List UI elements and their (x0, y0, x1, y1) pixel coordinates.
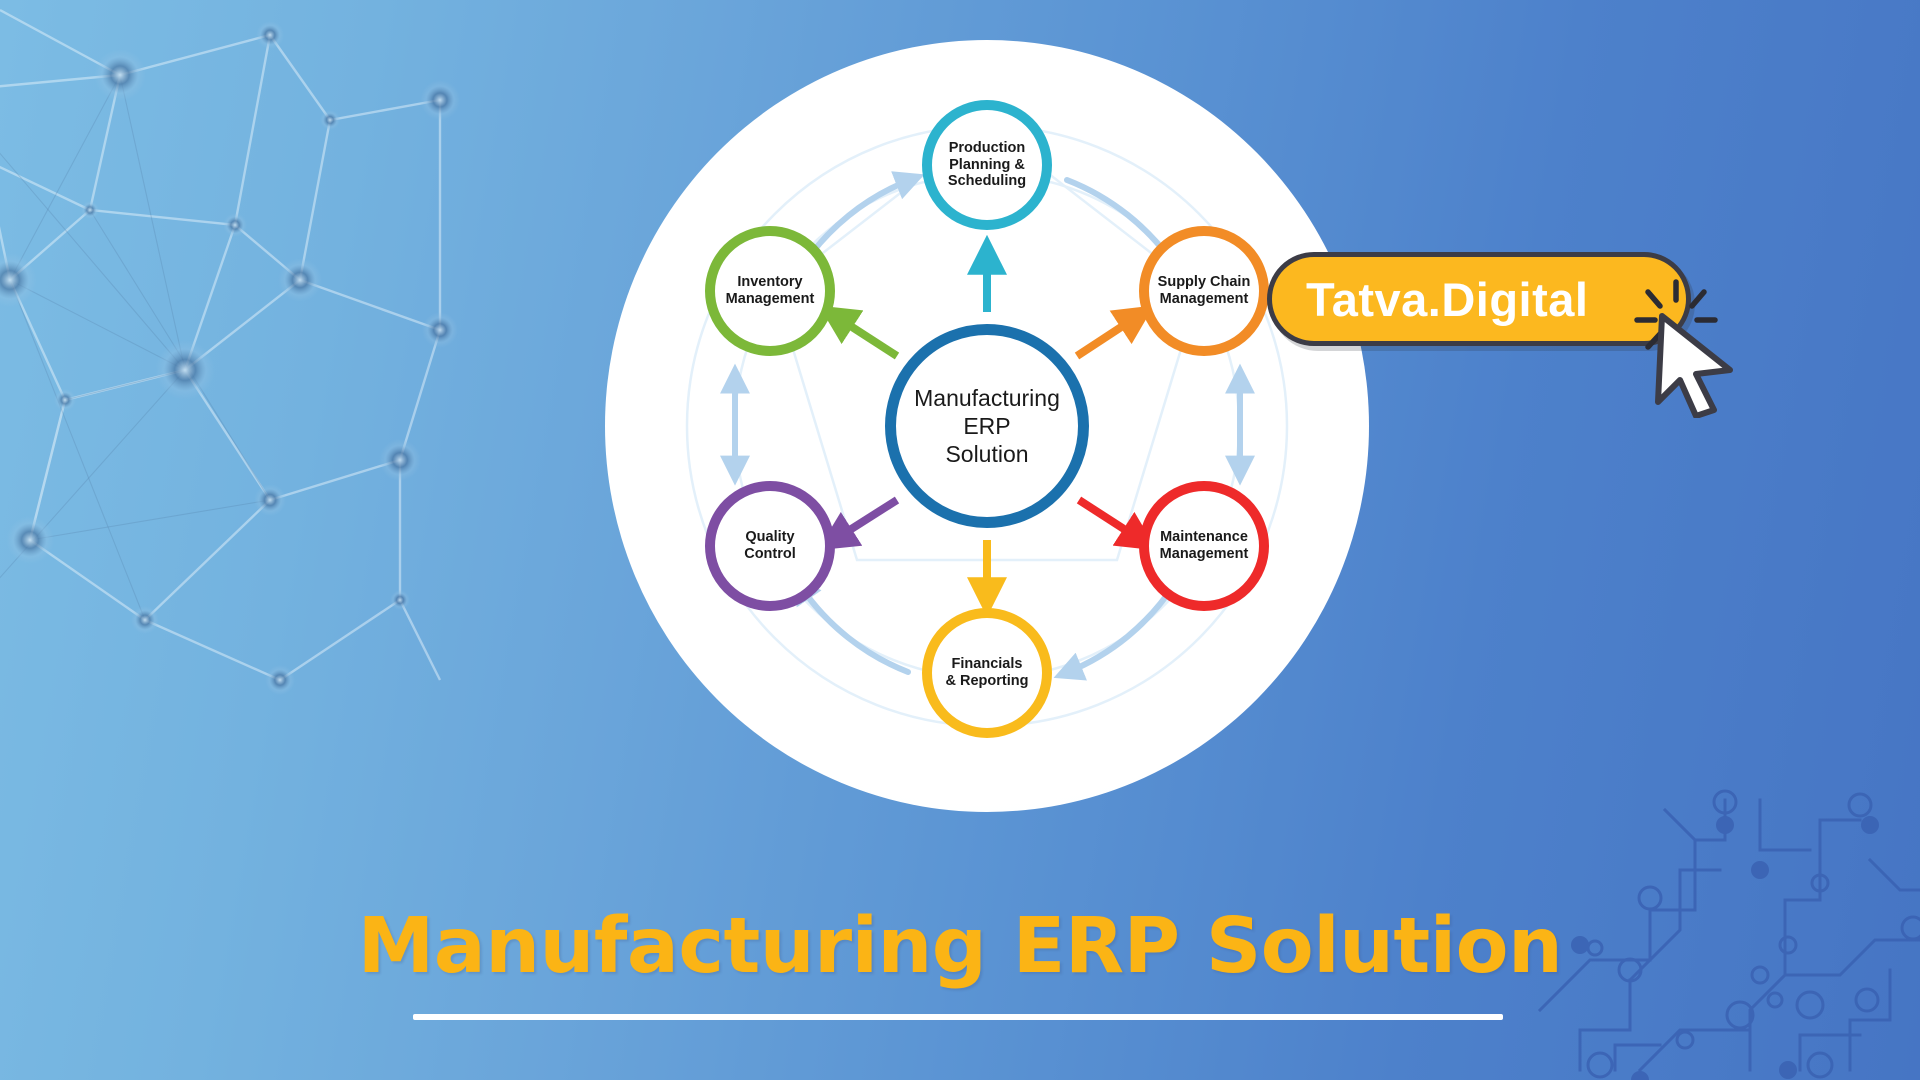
erp-solution-diagram: ProductionPlanning &Scheduling Supply Ch… (605, 40, 1369, 812)
node-production-planning-label: ProductionPlanning &Scheduling (944, 140, 1030, 190)
node-supply-chain-management[interactable]: Supply ChainManagement (1139, 226, 1269, 356)
node-quality-control[interactable]: QualityControl (705, 481, 835, 611)
node-quality-control-label: QualityControl (740, 529, 800, 563)
slide-canvas: ProductionPlanning &Scheduling Supply Ch… (0, 0, 1920, 1080)
node-inventory-management[interactable]: InventoryManagement (705, 226, 835, 356)
node-maintenance-management-label: MaintenanceManagement (1156, 529, 1253, 563)
node-manufacturing-erp-solution-label: ManufacturingERPSolution (910, 384, 1064, 468)
node-production-planning[interactable]: ProductionPlanning &Scheduling (922, 100, 1052, 230)
node-inventory-management-label: InventoryManagement (722, 274, 819, 308)
page-title: Manufacturing ERP Solution (0, 902, 1920, 991)
network-nodes-graphic (0, 0, 490, 700)
node-financials-reporting-label: Financials& Reporting (942, 656, 1033, 690)
title-underline-rule (413, 1014, 1503, 1020)
mouse-pointer-icon[interactable] (1652, 310, 1736, 418)
node-maintenance-management[interactable]: MaintenanceManagement (1139, 481, 1269, 611)
tatva-digital-badge-label: Tatva.Digital (1306, 272, 1588, 327)
node-financials-reporting[interactable]: Financials& Reporting (922, 608, 1052, 738)
node-supply-chain-management-label: Supply ChainManagement (1154, 274, 1255, 308)
node-manufacturing-erp-solution[interactable]: ManufacturingERPSolution (885, 324, 1089, 528)
tatva-digital-badge[interactable]: Tatva.Digital (1267, 252, 1691, 346)
